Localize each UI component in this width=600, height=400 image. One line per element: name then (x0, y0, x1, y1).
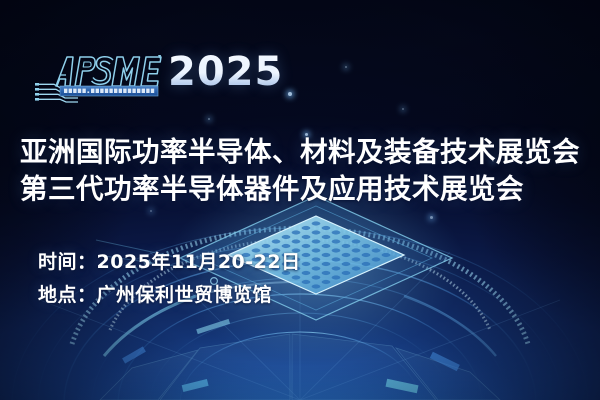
event-title: 亚洲国际功率半导体、材料及装备技术展览会 第三代功率半导体器件及应用技术展览会 (20, 134, 586, 208)
year-label: 2025 (168, 52, 283, 92)
event-title-line-2: 第三代功率半导体器件及应用技术展览会 (20, 171, 586, 208)
event-title-line-1: 亚洲国际功率半导体、材料及装备技术展览会 (20, 134, 586, 171)
event-banner: 2025 亚洲国际功率半导体、材料及装备技术展览会 第三代功率半导体器件及应用技… (0, 0, 600, 400)
event-venue: 地点：广州保利世贸博览馆 (38, 279, 301, 312)
event-info: 时间：2025年11月20-22日 地点：广州保利世贸博览馆 (38, 246, 301, 312)
event-date: 时间：2025年11月20-22日 (38, 246, 301, 279)
apsme-logo[interactable] (34, 52, 162, 108)
